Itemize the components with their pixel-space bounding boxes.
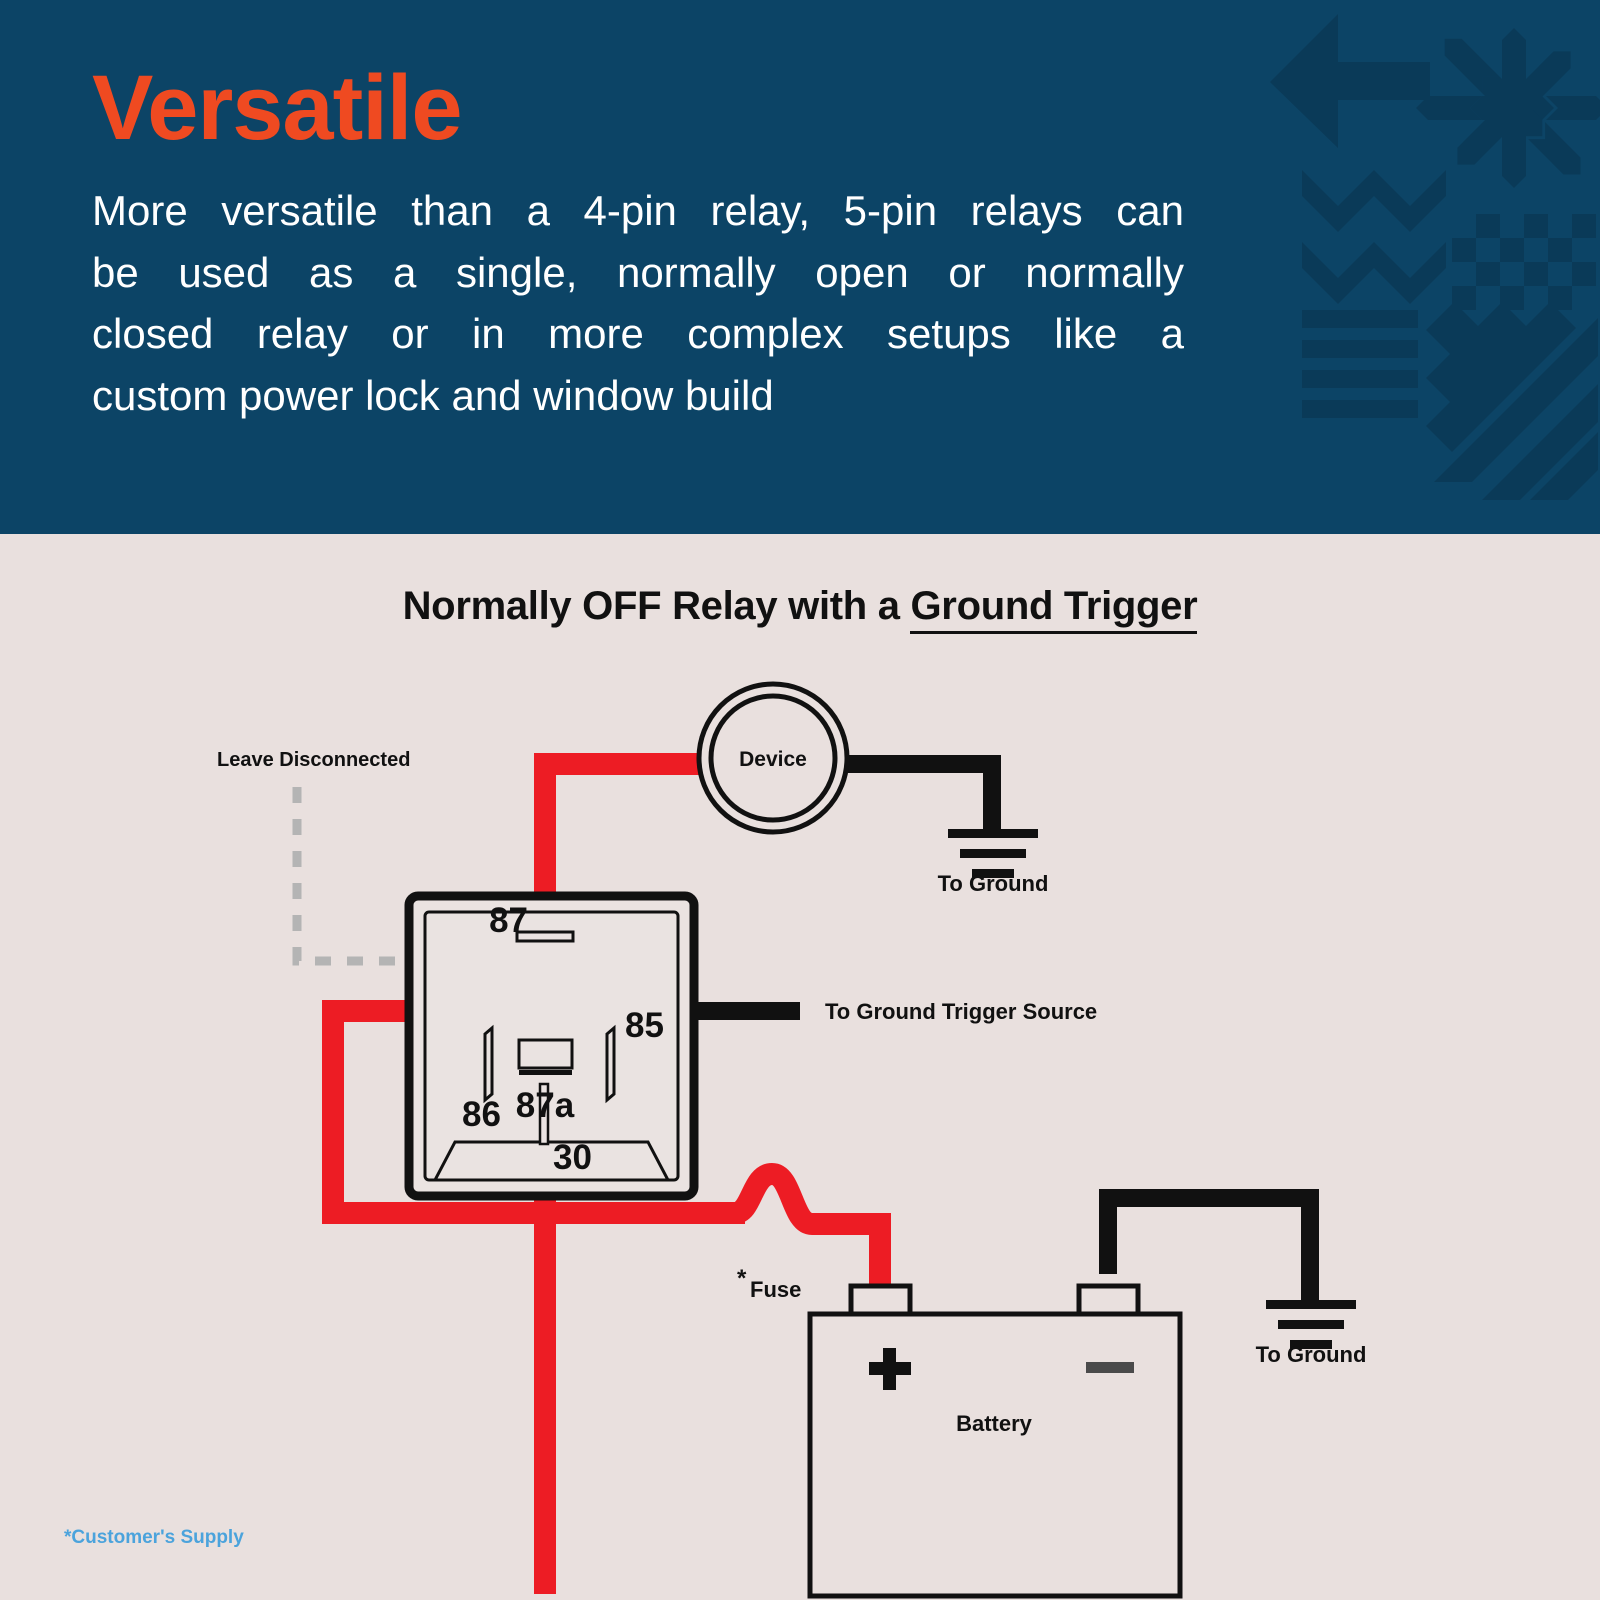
hero-line-1: More versatile than a 4-pin relay, 5-pin… — [92, 180, 1184, 242]
pin-label-85: 85 — [625, 1006, 664, 1045]
relay-terminal-85 — [607, 1028, 614, 1100]
infographic-page: Versatile More versatile than a 4-pin re… — [0, 0, 1600, 1600]
battery-to-ground-label: To Ground — [1256, 1342, 1367, 1367]
hero-banner: Versatile More versatile than a 4-pin re… — [0, 0, 1600, 534]
leave-disconnected-label: Leave Disconnected — [217, 749, 410, 771]
hero-content: Versatile More versatile than a 4-pin re… — [92, 62, 1192, 427]
battery-symbol — [810, 1286, 1180, 1596]
hero-line-4: custom power lock and window build — [92, 365, 1184, 427]
pin-label-87: 87 — [489, 901, 528, 940]
battery-label: Battery — [956, 1411, 1033, 1436]
pin-label-30: 30 — [553, 1138, 592, 1177]
fuse-wire — [735, 1174, 880, 1289]
page-title: Versatile — [92, 62, 1192, 156]
device-to-ground-label: To Ground — [938, 871, 1049, 896]
pin-label-87a: 87a — [516, 1086, 575, 1125]
pin-label-86: 86 — [462, 1095, 501, 1134]
device-label: Device — [739, 748, 807, 771]
device-ground-wire — [848, 764, 1038, 878]
fuse-asterisk: * — [737, 1265, 747, 1292]
hero-description: More versatile than a 4-pin relay, 5-pin… — [92, 180, 1184, 427]
decorative-pattern — [1230, 0, 1600, 530]
fuse-label: Fuse — [750, 1277, 801, 1302]
hero-line-3: closed relay or in more complex setups l… — [92, 303, 1184, 365]
customer-supply-note: *Customer's Supply — [64, 1527, 244, 1549]
wiring-schematic: Leave Disconnected * — [0, 534, 1600, 1600]
to-ground-trigger-source-label: To Ground Trigger Source — [825, 999, 1097, 1024]
hero-line-2: be used as a single, normally open or no… — [92, 242, 1184, 304]
wiring-diagram-section: Normally OFF Relay with a Ground Trigger… — [0, 534, 1600, 1600]
relay-terminal-86 — [485, 1028, 492, 1100]
